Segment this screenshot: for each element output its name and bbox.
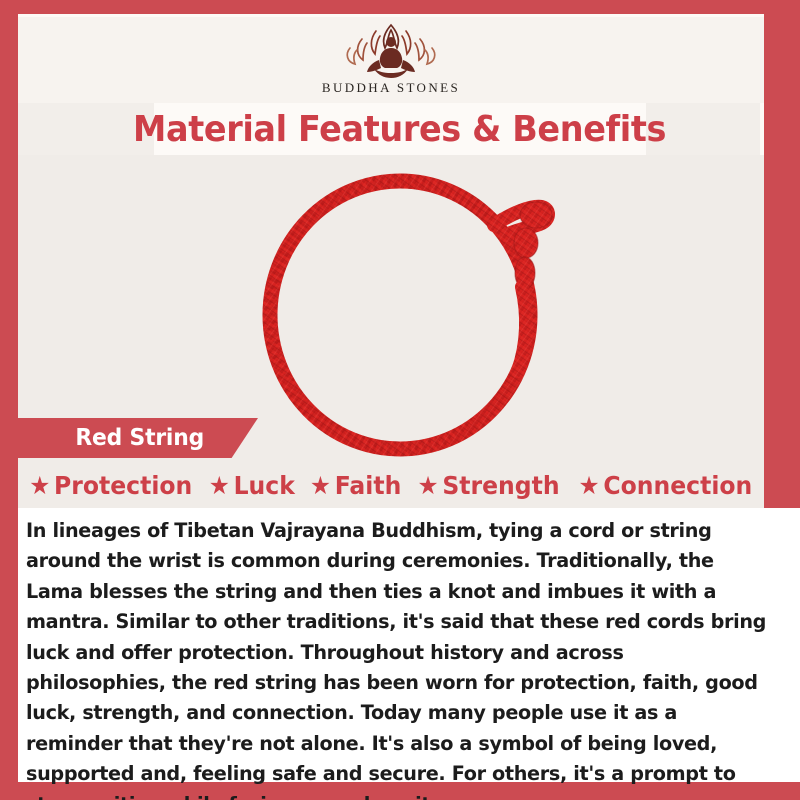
frame-top-border [0,0,800,14]
star-icon: ★ [29,473,50,498]
benefit-item-luck: ★ Luck [209,471,295,500]
benefits-row: ★ Protection ★ Luck ★ Faith ★ Strength ★… [18,463,764,507]
page-title: Material Features & Benefits [134,109,667,150]
benefit-label: Strength [443,471,560,500]
benefit-label: Protection [54,471,192,500]
star-icon: ★ [418,473,439,498]
lotus-meditation-icon [332,17,450,79]
benefit-label: Connection [604,471,753,500]
benefit-item-faith: ★ Faith [310,471,401,500]
frame-left-border [0,0,18,800]
product-label-banner: Red String [18,418,258,458]
benefit-item-strength: ★ Strength [418,471,560,500]
description-panel: In lineages of Tibetan Vajrayana Buddhis… [18,508,800,782]
star-icon: ★ [209,473,230,498]
brand-logo: BUDDHA STONES [18,17,764,96]
star-icon: ★ [310,473,331,498]
red-braided-string-bracelet-icon [250,163,570,463]
infographic-poster: BUDDHA STONES Material Features & Benefi… [0,0,800,800]
benefit-item-connection: ★ Connection [579,471,753,500]
title-banner: Material Features & Benefits [154,103,646,155]
brand-header: BUDDHA STONES [18,17,764,103]
benefit-label: Faith [335,471,402,500]
brand-name: BUDDHA STONES [322,80,460,96]
benefit-label: Luck [234,471,295,500]
product-label: Red String [75,425,204,451]
description-text: In lineages of Tibetan Vajrayana Buddhis… [26,516,767,800]
star-icon: ★ [579,473,600,498]
benefit-item-protection: ★ Protection [29,471,192,500]
